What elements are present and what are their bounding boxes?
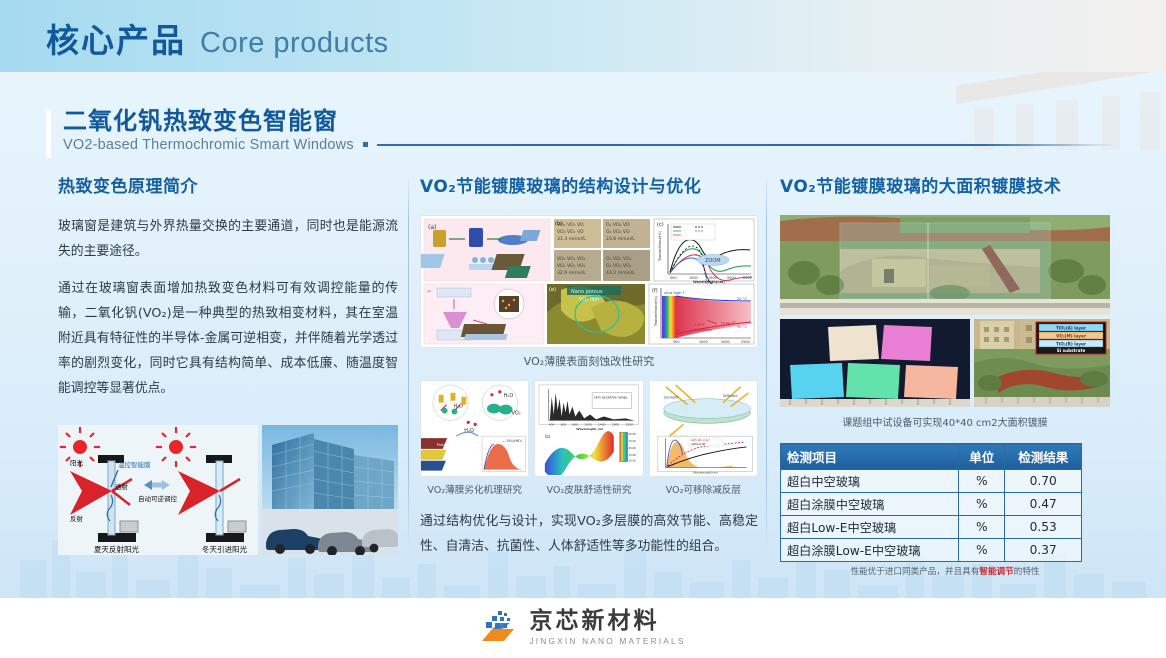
spec-unit: % <box>959 493 1005 516</box>
svg-text:— VO₂/HfO₂: — VO₂/HfO₂ <box>502 439 523 443</box>
svg-text:ZOOM: ZOOM <box>705 258 721 264</box>
fig-degradation: H₂O H₂O VO₂ H₂O Protective layerH₂OGlass <box>420 380 529 477</box>
col3-title: VO₂节能镀膜玻璃的大面积镀膜技术 <box>780 172 1110 197</box>
logo-name-cn: 京芯新材料 <box>529 610 685 633</box>
spec-unit: % <box>959 470 1005 493</box>
svg-text:2500: 2500 <box>743 276 752 280</box>
svg-text:1000: 1000 <box>699 340 708 344</box>
svg-text:(e): (e) <box>549 287 556 293</box>
svg-text:43.2 mmol/L: 43.2 mmol/L <box>606 270 635 276</box>
svg-text:1800: 1800 <box>612 422 620 426</box>
svg-text:1000: 1000 <box>585 422 593 426</box>
svg-text:透射: 透射 <box>115 482 129 491</box>
svg-text:反射: 反射 <box>70 514 84 523</box>
spec-result: 0.47 <box>1005 493 1082 516</box>
svg-text:Transmittance(%): Transmittance(%) <box>658 230 662 262</box>
fig-trio: H₂O H₂O VO₂ H₂O Protective layerH₂OGlass <box>420 380 758 477</box>
spec-header-item: 检测项目 <box>781 444 959 470</box>
svg-text:Diffused: Diffused <box>723 394 738 398</box>
svg-text:30.00: 30.00 <box>629 453 637 457</box>
svg-text:(a): (a) <box>428 224 436 231</box>
svg-text:冬天引进阳光: 冬天引进阳光 <box>202 544 247 554</box>
svg-text:2200: 2200 <box>626 422 634 426</box>
svg-text:自动可逆调控: 自动可逆调控 <box>138 494 178 503</box>
section-accent-bar <box>46 110 51 158</box>
svg-text:O₂ VO₂ VO₂: O₂ VO₂ VO₂ <box>606 256 632 262</box>
logo-text-group: 京芯新材料 JINGXIN NANO MATERIALS <box>529 610 685 645</box>
spec-item: 超白Low-E中空玻璃 <box>781 516 959 539</box>
header-title-group: 核心产品 Core products <box>46 14 389 62</box>
section-heading: 二氧化钒热致变色智能窗 VO2-based Thermochromic Smar… <box>46 108 1116 153</box>
svg-text:2000: 2000 <box>727 276 736 280</box>
fig-etching-grid: (a) VO₂ VO₂ VOVO₂ VO₂ VO31.3 mmol/L O₂ V… <box>420 215 758 348</box>
svg-text:ultra-high T: ultra-high T <box>664 291 686 295</box>
svg-text:Sunlight: Sunlight <box>663 396 678 400</box>
svg-text:VO₂: VO₂ <box>512 410 521 416</box>
svg-text:O₂ VO₂ VO₂: O₂ VO₂ VO₂ <box>606 263 632 269</box>
logo-mark-icon <box>480 611 518 645</box>
col2-title: VO₂节能镀膜玻璃的结构设计与优化 <box>420 172 758 197</box>
spec-unit: % <box>959 539 1005 562</box>
column-large-area-coating: VO₂节能镀膜玻璃的大面积镀膜技术 <box>780 172 1110 577</box>
table-row: 超白涂膜中空玻璃 % 0.47 <box>781 493 1082 516</box>
table-row: 超白涂膜Low-E中空玻璃 % 0.37 <box>781 539 1082 562</box>
svg-text:with AR n=1.2: with AR n=1.2 <box>691 438 710 442</box>
svg-text:1400: 1400 <box>598 422 606 426</box>
svg-text:400: 400 <box>549 422 555 426</box>
svg-text:2500: 2500 <box>741 340 750 344</box>
trio-caption-2: VO₂皮肤舒适性研究 <box>534 482 643 496</box>
svg-text:Wavelength(nm): Wavelength(nm) <box>693 471 717 475</box>
svg-text:H₂O: H₂O <box>504 393 514 399</box>
svg-text:Wavelength, nm: Wavelength, nm <box>577 427 604 431</box>
color-samples-photo <box>780 319 970 407</box>
col1-title: 热致变色原理简介 <box>58 172 398 197</box>
svg-text:夏天反射阳光: 夏天反射阳光 <box>94 544 139 554</box>
svg-text:2000: 2000 <box>721 340 730 344</box>
svg-text:20 °C: 20 °C <box>737 297 748 301</box>
column-principle: 热致变色原理简介 玻璃窗是建筑与外界热量交换的主要通道，同时也是能源流失的主要途… <box>58 172 398 414</box>
spec-result: 0.70 <box>1005 470 1082 493</box>
building-car-photo <box>262 425 398 555</box>
spec-result: 0.53 <box>1005 516 1082 539</box>
svg-text:(b): (b) <box>555 221 562 227</box>
svg-text:10.00: 10.00 <box>629 459 637 463</box>
smart-window-diagram: 阳光 温控智能膜 透射 反射 自动可逆调控 夏天反射阳光 冬天引进阳光 <box>58 425 258 555</box>
svg-text:32.9 mmol/L: 32.9 mmol/L <box>557 270 586 276</box>
svg-text:Transmittance(%): Transmittance(%) <box>654 295 658 327</box>
logo-name-en: JINGXIN NANO MATERIALS <box>529 637 685 645</box>
column-divider-2 <box>766 176 767 550</box>
spec-item: 超白涂膜中空玻璃 <box>781 493 959 516</box>
svg-text:VO₂ VO₂ VO: VO₂ VO₂ VO <box>557 229 584 235</box>
spec-item: 超白中空玻璃 <box>781 470 959 493</box>
svg-text:Glass: Glass <box>449 465 459 469</box>
svg-text:500: 500 <box>673 340 679 344</box>
svg-text:Nano porous: Nano porous <box>571 289 603 295</box>
table-row: 超白中空玻璃 % 0.70 <box>781 470 1082 493</box>
spec-result: 0.37 <box>1005 539 1082 562</box>
svg-text:温控智能膜: 温控智能膜 <box>118 460 151 469</box>
fig-skin-comfort: skin sensitive range 4006008001000 14001… <box>534 380 643 477</box>
slide-header: 核心产品 Core products <box>0 0 1166 72</box>
slide-root: 核心产品 Core products 二氧化钒热致变色智能窗 VO2-based… <box>0 0 1166 658</box>
svg-text:Wavelength(nm): Wavelength(nm) <box>693 280 725 284</box>
svg-text:O₂ VO₂ VO: O₂ VO₂ VO <box>606 222 630 228</box>
large-panel-photo <box>780 215 1110 315</box>
svg-text:TiO₂(A) layer: TiO₂(A) layer <box>1056 326 1087 331</box>
svg-text:VO₂(M) layer: VO₂(M) layer <box>1056 334 1087 339</box>
spec-item: 超白涂膜Low-E中空玻璃 <box>781 539 959 562</box>
spec-unit: % <box>959 516 1005 539</box>
section-title-cn: 二氧化钒热致变色智能窗 <box>63 108 1116 136</box>
svg-text:LSPR: LSPR <box>695 323 704 327</box>
spec-table-note: 性能优于进口同类产品，并且具有智能调节的特性 <box>780 565 1110 577</box>
svg-text:TiO₂(R) layer: TiO₂(R) layer <box>1056 342 1087 347</box>
fig-trio-captions: VO₂薄膜劣化机理研究 VO₂皮肤舒适性研究 VO₂可移除减反层 <box>420 482 758 496</box>
svg-text:(d): (d) <box>427 289 431 293</box>
campus-photo-with-layer-stack: TiO₂(A) layer VO₂(M) layer TiO₂(R) layer… <box>974 319 1110 407</box>
svg-text:VO₂ VO₂ VO₂: VO₂ VO₂ VO₂ <box>557 256 586 262</box>
section-rule <box>377 144 1116 146</box>
column-divider-1 <box>408 176 409 550</box>
svg-text:(f): (f) <box>652 288 658 294</box>
section-subtitle-row: VO2-based Thermochromic Smart Windows <box>63 137 1116 153</box>
trio-caption-3: VO₂可移除减反层 <box>649 482 758 496</box>
trio-caption-1: VO₂薄膜劣化机理研究 <box>420 482 529 496</box>
page-title-en: Core products <box>200 27 389 60</box>
section-line-dot <box>363 142 368 147</box>
svg-text:(c): (c) <box>657 222 664 228</box>
svg-text:90.00: 90.00 <box>629 432 637 436</box>
spec-header-unit: 单位 <box>959 444 1005 470</box>
coating-photo-mosaic: TiO₂(A) layer VO₂(M) layer TiO₂(R) layer… <box>780 215 1110 429</box>
svg-text:23.6 mmol/L: 23.6 mmol/L <box>606 236 635 242</box>
note-highlight: 智能调节 <box>979 567 1013 577</box>
col2-paragraph: 通过结构优化与设计，实现VO₂多层膜的高效节能、高稳定性、自清洁、抗菌性、人体舒… <box>420 510 758 560</box>
svg-text:H₂O: H₂O <box>453 404 463 410</box>
note-prefix: 性能优于进口同类产品，并且具有 <box>850 567 979 577</box>
col1-illustration: 阳光 温控智能膜 透射 反射 自动可逆调控 夏天反射阳光 冬天引进阳光 <box>58 425 398 555</box>
svg-text:阳光: 阳光 <box>70 458 84 467</box>
svg-text:large ΔT: large ΔT <box>721 321 737 325</box>
spec-header-result: 检测结果 <box>1005 444 1082 470</box>
fig-etching-caption: VO₂薄膜表面刻蚀改性研究 <box>420 353 758 369</box>
section-title-en: VO2-based Thermochromic Smart Windows <box>63 137 354 153</box>
svg-text:absorption: absorption <box>693 328 712 332</box>
coating-photo-row: TiO₂(A) layer VO₂(M) layer TiO₂(R) layer… <box>780 319 1110 407</box>
svg-text:500: 500 <box>670 276 676 280</box>
svg-text:VO₂ film: VO₂ film <box>579 297 599 303</box>
svg-text:without AR: without AR <box>691 442 705 446</box>
svg-text:skin sensitive range: skin sensitive range <box>594 396 627 400</box>
svg-text:70.00: 70.00 <box>629 439 637 443</box>
spec-table: 检测项目 单位 检测结果 超白中空玻璃 % 0.70 超白涂膜中空玻璃 % 0.… <box>780 443 1082 562</box>
svg-text:31.3 mmol/L: 31.3 mmol/L <box>557 236 586 242</box>
col1-paragraph-1: 玻璃窗是建筑与外界热量交换的主要通道，同时也是能源流失的主要途径。 <box>58 215 398 265</box>
svg-text:800: 800 <box>573 422 579 426</box>
column-structure-design: VO₂节能镀膜玻璃的结构设计与优化 (a) <box>420 172 758 572</box>
svg-text:600: 600 <box>561 422 567 426</box>
svg-text:Protective layer: Protective layer <box>437 443 465 447</box>
company-logo: 京芯新材料 JINGXIN NANO MATERIALS <box>0 598 1166 658</box>
svg-text:H₂O: H₂O <box>447 454 454 458</box>
svg-text:90 °C: 90 °C <box>737 325 748 329</box>
coating-photo-caption: 课题组中试设备可实现40*40 cm2大面积镀膜 <box>780 414 1110 429</box>
svg-text:Si substrate: Si substrate <box>1057 348 1086 353</box>
note-suffix: 的特性 <box>1014 567 1040 577</box>
spec-table-header-row: 检测项目 单位 检测结果 <box>781 444 1082 470</box>
col1-paragraph-2: 通过在玻璃窗表面增加热致变色材料可有效调控能量的传输，二氧化钒(VO₂)是一种典… <box>58 277 398 402</box>
svg-text:(b): (b) <box>545 434 551 439</box>
svg-text:50.00: 50.00 <box>629 446 637 450</box>
svg-text:O₂ VO₂ VO: O₂ VO₂ VO <box>606 229 630 235</box>
svg-text:VO₂ VO₂ VO₂: VO₂ VO₂ VO₂ <box>557 263 586 269</box>
table-row: 超白Low-E中空玻璃 % 0.53 <box>781 516 1082 539</box>
page-title-cn: 核心产品 <box>46 14 186 62</box>
fig-antireflection: SunlightDiffusedSunlight with AR n=1.2wi… <box>649 380 758 477</box>
